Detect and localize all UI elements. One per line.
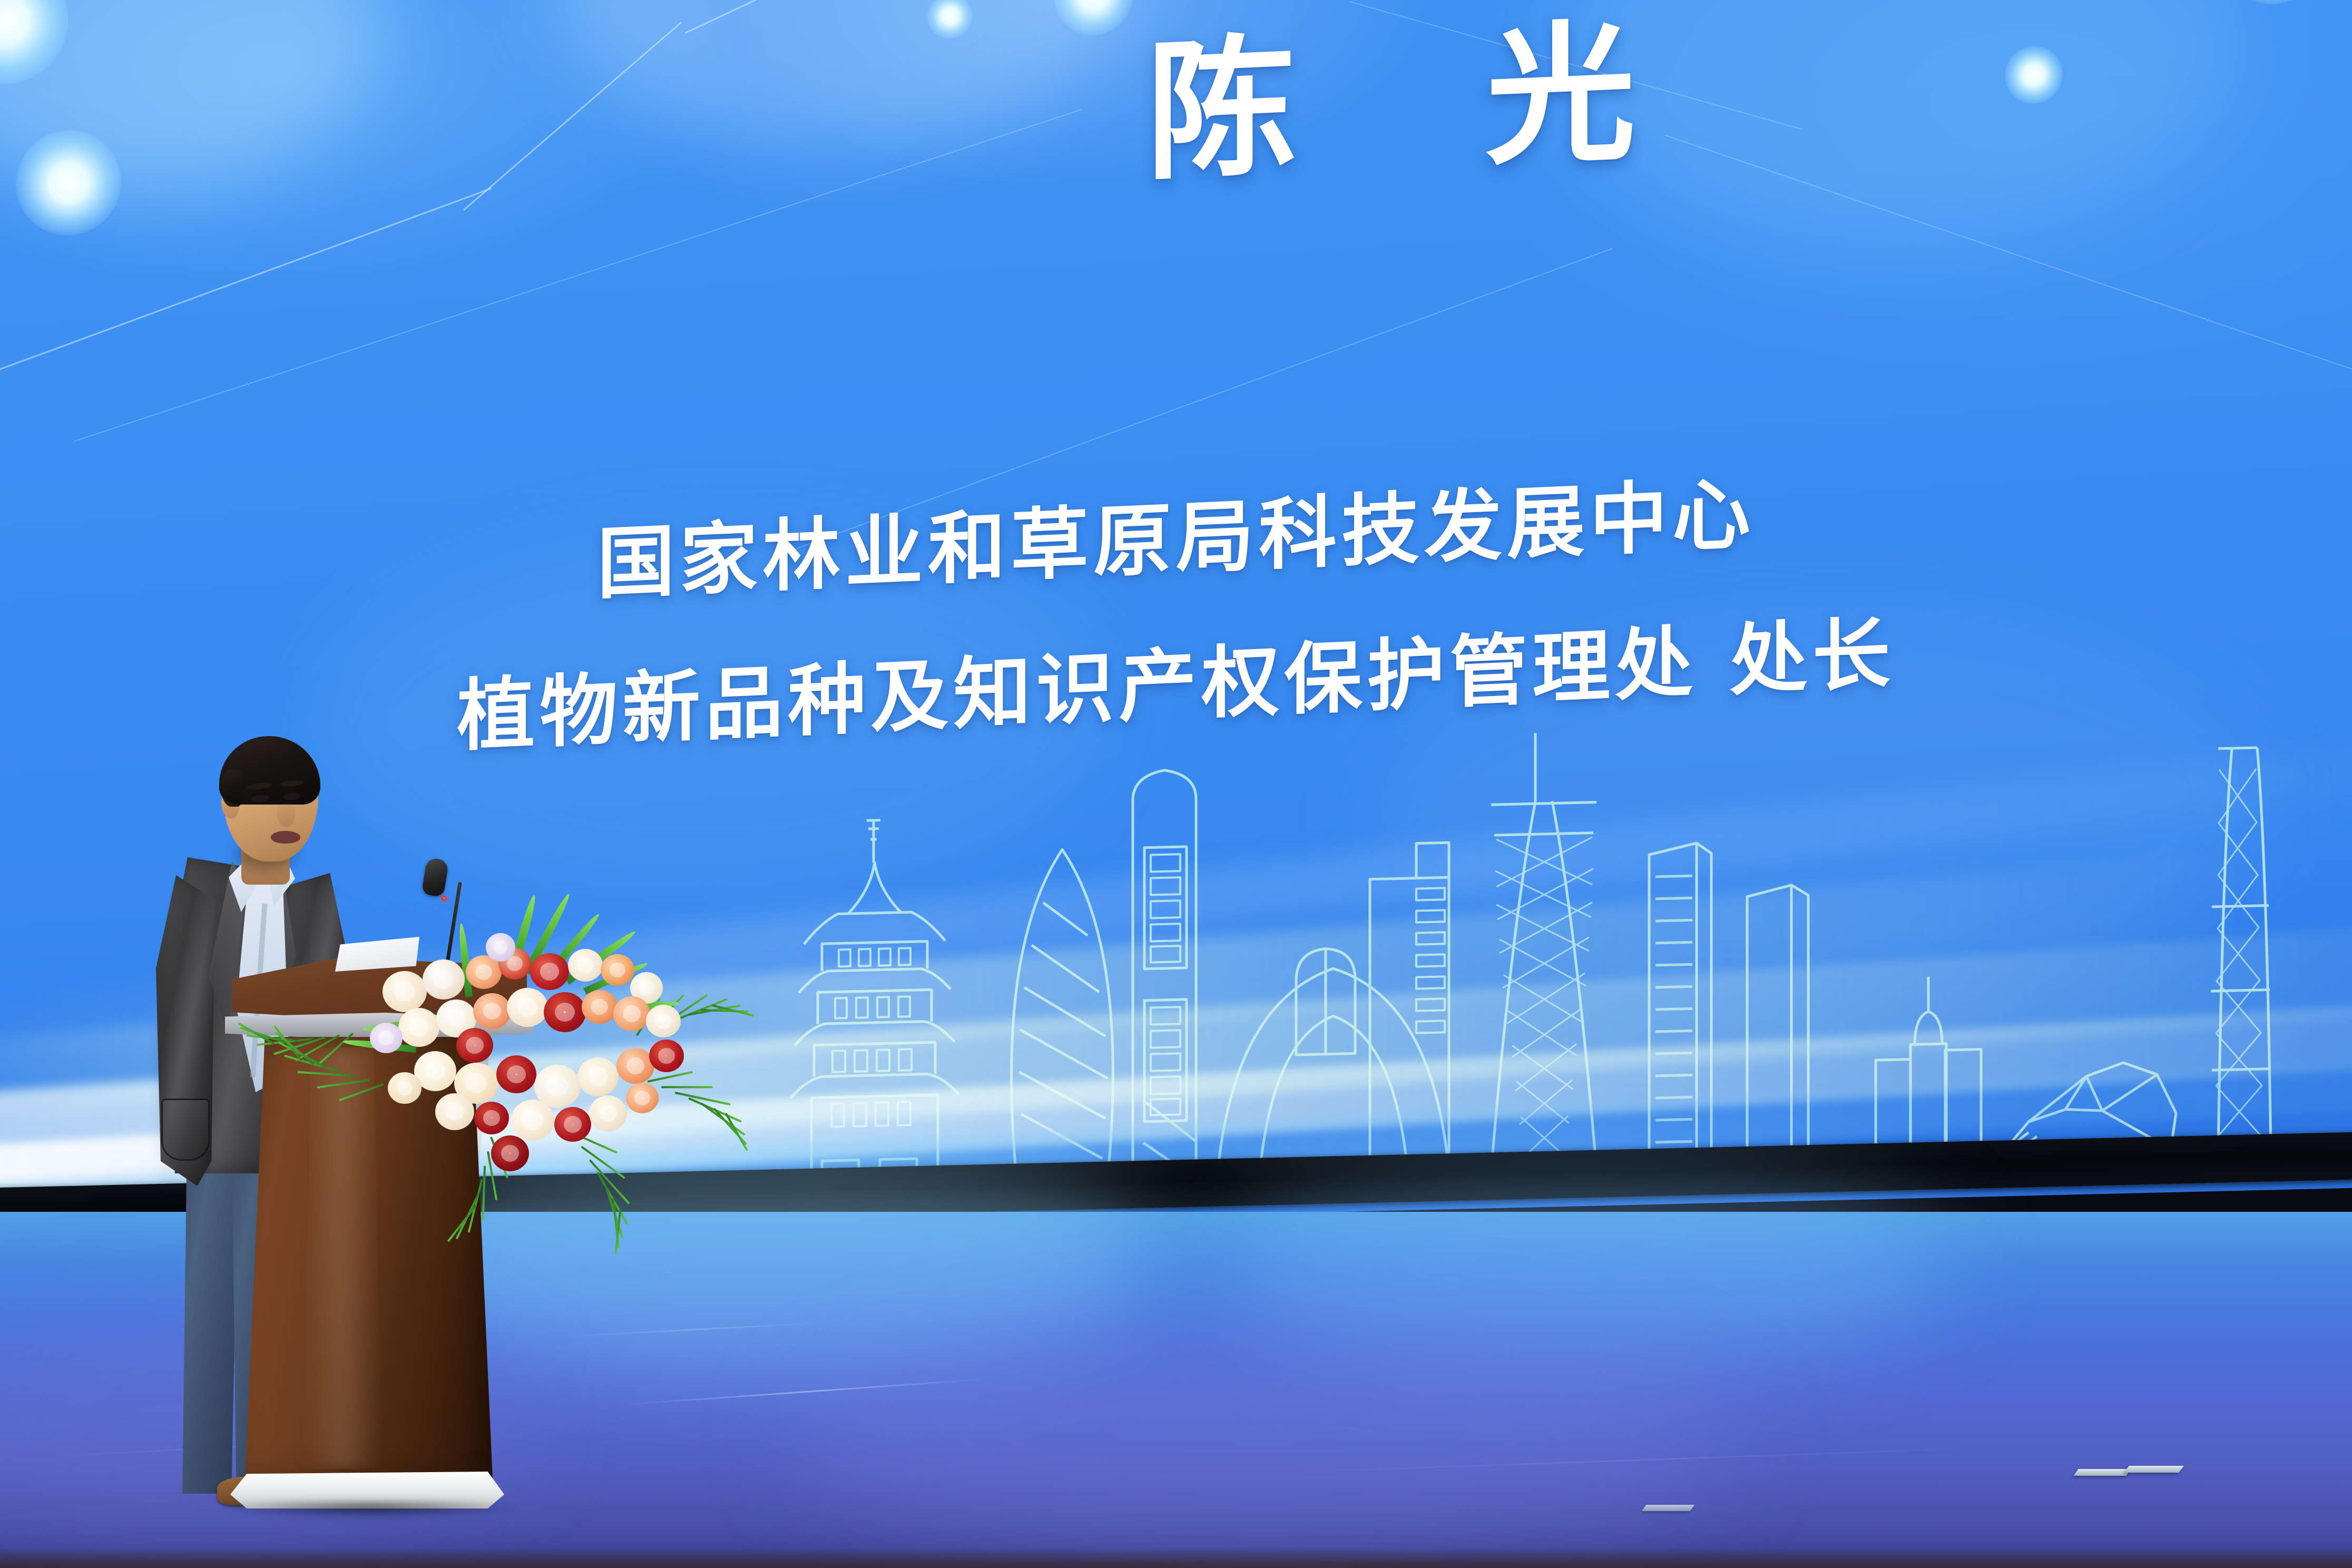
jacket-pocket <box>161 1099 210 1161</box>
network-circuit-lines <box>463 22 682 211</box>
lectern-ground-shadow <box>219 1501 519 1518</box>
flower-bloom <box>496 1055 536 1093</box>
flower-bloom <box>589 1095 627 1131</box>
flower-bloom <box>649 1040 684 1072</box>
flower-bloom <box>491 1135 529 1171</box>
flower-bloom <box>473 993 511 1029</box>
flower-bloom <box>511 1100 554 1141</box>
conference-stage-photo: 陈 光 国家林业和草原局科技发展中心 植物新品种及知识产权保护管理处 处长 <box>0 0 2352 1568</box>
flower-bloom <box>577 1057 619 1096</box>
flower-bloom <box>474 1102 509 1134</box>
flower-bloom <box>616 1048 654 1084</box>
network-node-dot <box>2005 45 2063 105</box>
network-circuit-lines <box>1665 135 2352 372</box>
flower-bloom <box>486 933 515 962</box>
flower-bloom <box>398 1008 439 1047</box>
flower-bloom <box>456 1028 493 1063</box>
network-node-dot <box>16 129 121 237</box>
floral-arrangement <box>337 914 759 1209</box>
flower-bloom <box>370 1023 403 1053</box>
flower-bloom <box>383 971 427 1012</box>
flower-bloom <box>568 949 603 982</box>
flower-bloom <box>423 959 465 999</box>
network-node-dot <box>927 0 973 40</box>
network-node-dot <box>2229 0 2318 5</box>
mouth <box>271 831 300 844</box>
flower-bloom <box>646 1005 681 1037</box>
flower-bloom <box>613 996 650 1031</box>
floor-light-reflection <box>790 1328 1739 1549</box>
flower-bloom <box>544 992 586 1032</box>
network-node-dot <box>1054 0 1133 36</box>
leg-left <box>182 1157 238 1494</box>
network-node-dot <box>0 0 68 86</box>
flower-bloom <box>626 1083 659 1113</box>
microphone-status-led <box>442 896 447 901</box>
flower-bloom <box>582 990 618 1024</box>
floor-access-plate <box>2124 1466 2183 1473</box>
network-circuit-lines <box>74 109 1082 442</box>
floor-access-plate <box>2073 1469 2131 1476</box>
flower-bloom <box>435 1093 474 1130</box>
nose <box>277 802 295 827</box>
hair-sideburn <box>221 770 242 807</box>
flower-bloom <box>388 1072 422 1104</box>
floor-access-plate <box>1642 1505 1695 1511</box>
flower-bloom <box>507 988 548 1027</box>
speaker-name-title: 陈 光 <box>991 8 1791 198</box>
stage-front-edge <box>0 1547 2352 1568</box>
flower-bloom <box>530 953 569 990</box>
flower-bloom <box>601 954 634 986</box>
flower-bloom <box>554 1107 591 1142</box>
